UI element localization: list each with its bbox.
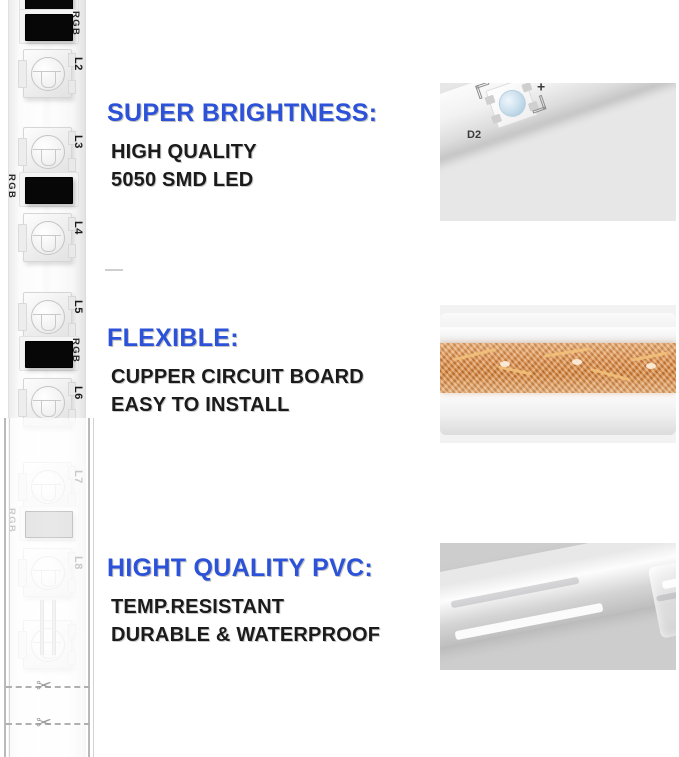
feature-line-2: DURABLE & WATERPROOF bbox=[111, 623, 437, 649]
pvc-sleeve-overlay bbox=[0, 418, 100, 757]
cut-marker: ✂ bbox=[6, 713, 90, 735]
strip-led bbox=[23, 213, 72, 262]
strip-rgb-label: RGB bbox=[6, 174, 17, 199]
silkscreen-label-d2: D2 bbox=[467, 129, 481, 141]
feature-photo-pvc-sleeve bbox=[440, 543, 676, 670]
feature-heading: SUPER BRIGHTNESS: bbox=[107, 100, 437, 126]
led-dome-icon bbox=[31, 135, 65, 169]
strip-led-label: L2 bbox=[72, 57, 84, 71]
feature-line-1: CUPPER CIRCUIT BOARD bbox=[111, 365, 437, 391]
product-infographic: RGB L2 L3 RGB L4 L5 RGB bbox=[0, 0, 679, 757]
strip-led bbox=[23, 49, 72, 98]
scissors-icon: ✂ bbox=[36, 676, 52, 698]
pcb-macro-photo: R11 D2 + bbox=[440, 83, 676, 166]
feature-line-2: EASY TO INSTALL bbox=[111, 393, 437, 419]
section-divider bbox=[105, 269, 123, 271]
feature-heading: HIGHT QUALITY PVC: bbox=[107, 555, 437, 581]
strip-driver-chip bbox=[25, 341, 73, 368]
sleeve-edge bbox=[88, 418, 90, 757]
strip-driver-chip bbox=[25, 14, 73, 41]
led-dome-icon bbox=[31, 57, 65, 91]
copper-circuit-band bbox=[440, 343, 676, 393]
strip-rgb-label: RGB bbox=[70, 338, 81, 363]
scissors-icon: ✂ bbox=[36, 713, 52, 735]
feature-heading: FLEXIBLE: bbox=[107, 325, 437, 351]
strip-led bbox=[23, 127, 72, 176]
sleeve-edge bbox=[93, 418, 94, 757]
led-strip-illustration: RGB L2 L3 RGB L4 L5 RGB bbox=[0, 0, 100, 757]
led-dome-icon bbox=[31, 221, 65, 255]
cut-marker: ✂ bbox=[6, 676, 90, 698]
strip-driver-chip bbox=[25, 177, 73, 204]
feature-block-high-quality-pvc: HIGHT QUALITY PVC: TEMP.RESISTANT DURABL… bbox=[107, 555, 437, 648]
feature-photo-copper-board bbox=[440, 305, 676, 443]
led-dome-icon bbox=[31, 386, 65, 420]
feature-photo-smd-led: R11 D2 + bbox=[440, 83, 676, 221]
silkscreen-label-plus: + bbox=[537, 83, 545, 95]
feature-block-flexible: FLEXIBLE: CUPPER CIRCUIT BOARD EASY TO I… bbox=[107, 325, 437, 418]
feature-line-2: 5050 SMD LED bbox=[111, 168, 437, 194]
smd-led-package bbox=[485, 83, 538, 129]
sleeve-edge bbox=[4, 418, 6, 757]
strip-led-label: L4 bbox=[72, 221, 84, 235]
strip-led bbox=[23, 292, 72, 341]
strip-rgb-label: RGB bbox=[70, 11, 81, 36]
strip-led-label: L6 bbox=[72, 386, 84, 400]
strip-led-label: L3 bbox=[72, 135, 84, 149]
tube-gloss bbox=[440, 327, 676, 341]
feature-block-super-brightness: SUPER BRIGHTNESS: HIGH QUALITY 5050 SMD … bbox=[107, 100, 437, 193]
sleeve-edge bbox=[9, 418, 10, 757]
feature-line-1: HIGH QUALITY bbox=[111, 140, 437, 166]
feature-line-1: TEMP.RESISTANT bbox=[111, 595, 437, 621]
strip-led-label: L5 bbox=[72, 300, 84, 314]
led-dome-icon bbox=[31, 300, 65, 334]
